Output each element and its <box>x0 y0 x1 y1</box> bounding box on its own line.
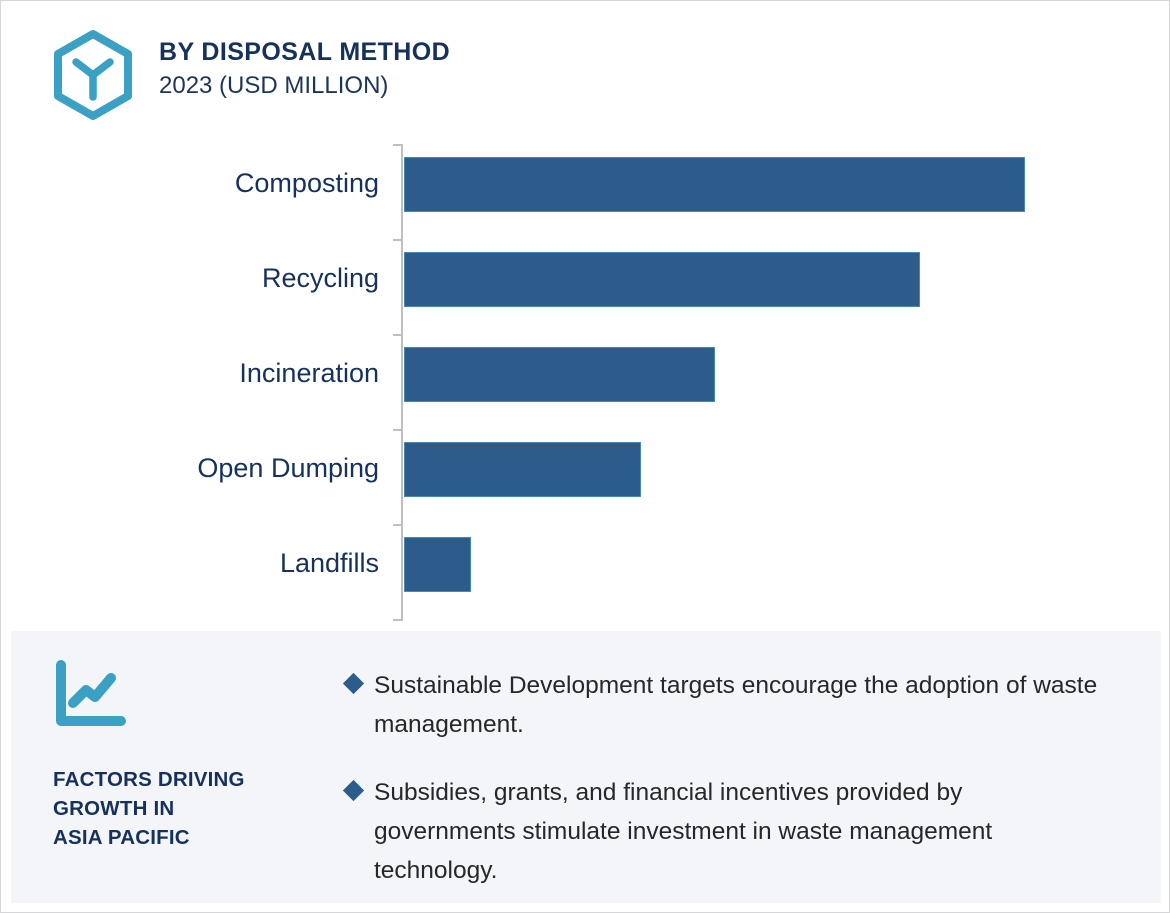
line-chart-trend-icon <box>53 659 346 733</box>
bar-category-label: Landfills <box>1 548 379 579</box>
factors-title: FACTORS DRIVING GROWTH IN ASIA PACIFIC <box>53 765 346 852</box>
bar-open-dumping[interactable] <box>404 442 641 497</box>
bar-incineration[interactable] <box>404 347 715 402</box>
bar-recycling[interactable] <box>404 252 920 307</box>
axis-tick <box>393 429 403 431</box>
axis-tick <box>393 524 403 526</box>
factors-bullet-list: Sustainable Development targets encourag… <box>346 631 1161 903</box>
factors-title-line: ASIA PACIFIC <box>53 823 346 852</box>
bullet-text: Subsidies, grants, and financial incenti… <box>374 774 1106 890</box>
bar-composting[interactable] <box>404 157 1025 212</box>
page-title: BY DISPOSAL METHOD <box>159 37 450 67</box>
bar-chart: Composting Recycling Incineration Open D… <box>1 131 1170 631</box>
infographic-card: BY DISPOSAL METHOD 2023 (USD MILLION) Co… <box>0 0 1170 913</box>
factors-panel: FACTORS DRIVING GROWTH IN ASIA PACIFIC S… <box>11 631 1161 903</box>
factors-left-column: FACTORS DRIVING GROWTH IN ASIA PACIFIC <box>11 631 346 903</box>
factors-title-line: FACTORS DRIVING <box>53 765 346 794</box>
bar-category-label: Incineration <box>1 358 379 389</box>
axis-tick <box>393 239 403 241</box>
bar-category-label: Composting <box>1 168 379 199</box>
header-text-block: BY DISPOSAL METHOD 2023 (USD MILLION) <box>159 29 450 101</box>
bar-category-label: Open Dumping <box>1 453 379 484</box>
hexagon-y-logo-icon <box>49 29 137 121</box>
list-item: Sustainable Development targets encourag… <box>346 667 1106 744</box>
page-subtitle: 2023 (USD MILLION) <box>159 71 450 101</box>
bar-category-label: Recycling <box>1 263 379 294</box>
list-item: Subsidies, grants, and financial incenti… <box>346 774 1106 890</box>
header: BY DISPOSAL METHOD 2023 (USD MILLION) <box>49 29 450 121</box>
axis-tick <box>393 144 403 146</box>
diamond-bullet-icon <box>343 780 364 801</box>
axis-tick <box>393 619 403 621</box>
bar-landfills[interactable] <box>404 537 471 592</box>
axis-tick <box>393 334 403 336</box>
factors-title-line: GROWTH IN <box>53 794 346 823</box>
chart-axis-line <box>401 144 403 620</box>
bullet-text: Sustainable Development targets encourag… <box>374 667 1106 744</box>
diamond-bullet-icon <box>343 673 364 694</box>
